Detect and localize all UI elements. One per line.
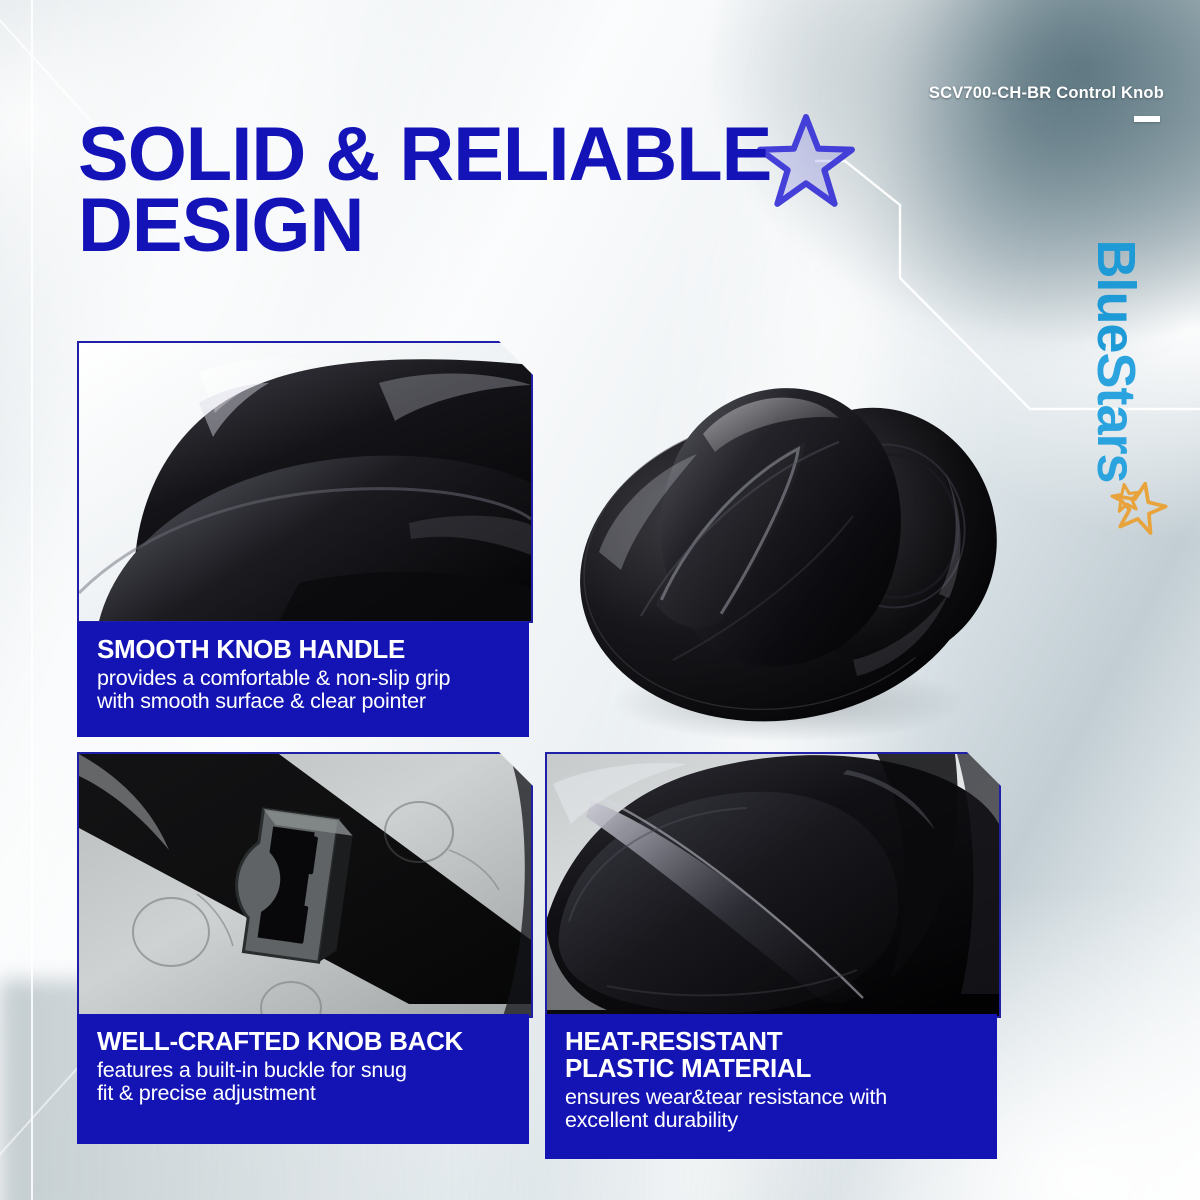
feature-title: SMOOTH KNOB HANDLE <box>97 636 511 663</box>
page-title-line-2: DESIGN <box>78 191 858 262</box>
frame-line-left <box>31 0 33 1200</box>
product-name-label: SCV700-CH-BR Control Knob <box>929 84 1164 103</box>
brand-name-blue: Blue <box>1086 239 1146 352</box>
page-title: SOLID & RELIABLE DESIGN <box>78 120 858 261</box>
feature-title: HEAT-RESISTANT PLASTIC MATERIAL <box>565 1028 979 1082</box>
feature-caption-knob-back: WELL-CRAFTED KNOB BACK features a built-… <box>77 1014 529 1144</box>
feature-photo-handle <box>77 341 533 623</box>
brand-logo: BlueStars <box>1084 196 1148 526</box>
feature-caption-handle: SMOOTH KNOB HANDLE provides a comfortabl… <box>77 622 529 737</box>
brand-logo-text: BlueStars <box>1084 196 1148 526</box>
hero-product-image <box>553 330 1013 760</box>
header-dash <box>1134 116 1160 122</box>
feature-photo-knob-back <box>77 752 533 1018</box>
feature-body: features a built-in buckle for snug fit … <box>97 1059 511 1106</box>
feature-body: provides a comfortable & non-slip grip w… <box>97 667 511 714</box>
feature-photo-material <box>545 752 1001 1018</box>
feature-title: WELL-CRAFTED KNOB BACK <box>97 1028 511 1055</box>
feature-body: ensures wear&tear resistance with excell… <box>565 1086 979 1133</box>
product-infographic: SCV700-CH-BR Control Knob SOLID & RELIAB… <box>0 0 1200 1200</box>
feature-caption-material: HEAT-RESISTANT PLASTIC MATERIAL ensures … <box>545 1014 997 1159</box>
brand-name-stars: Stars <box>1086 352 1146 482</box>
